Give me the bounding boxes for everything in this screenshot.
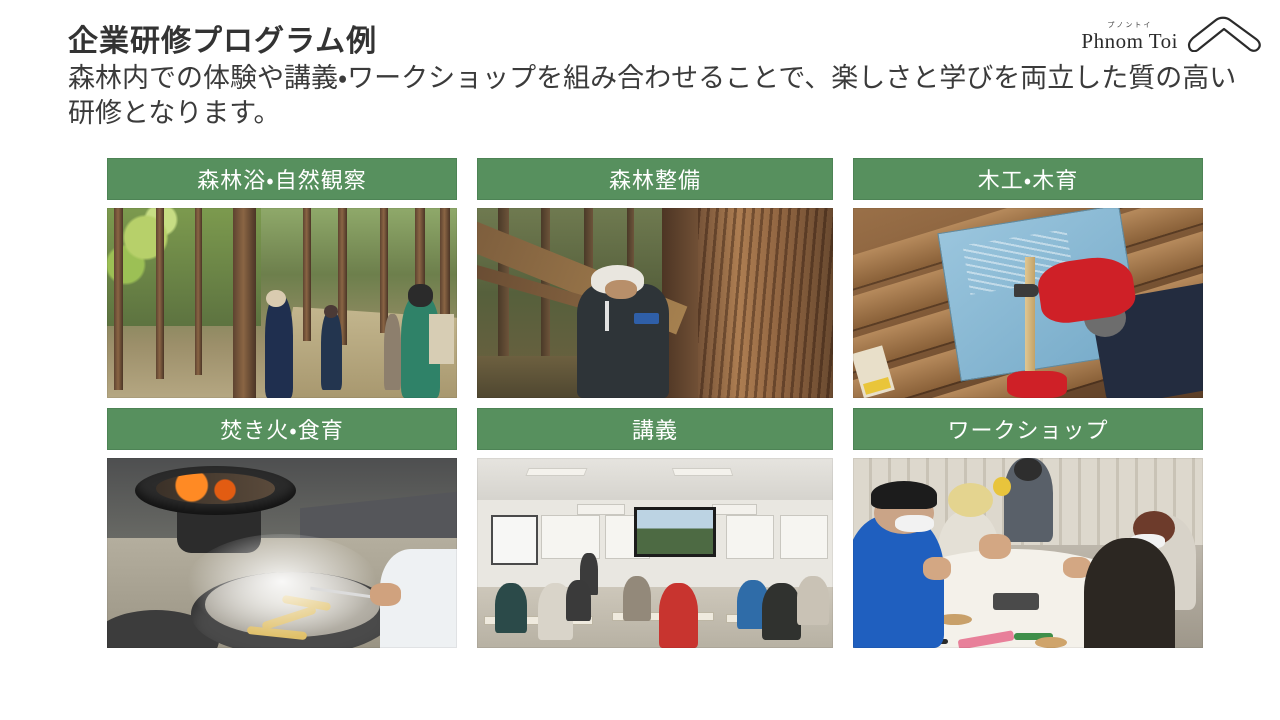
brand-logo: プノントイ Phnom Toi — [1081, 8, 1262, 52]
card-header-label: 森林浴・自然観察 — [107, 158, 457, 200]
forest-maintenance-photo — [477, 208, 833, 398]
lecture-classroom-photo — [477, 458, 833, 648]
logo-ruby-text: プノントイ — [1107, 22, 1152, 29]
program-card[interactable]: 講義 — [477, 408, 833, 648]
program-card[interactable]: 森林浴・自然観察 — [107, 158, 457, 398]
bonfire-food-education-photo — [107, 458, 457, 648]
card-header-label: 焚き火・食育 — [107, 408, 457, 450]
workshop-table-activity-photo — [853, 458, 1203, 648]
card-header-label: 木工・木育 — [853, 158, 1203, 200]
logo-wordmark: Phnom Toi — [1081, 31, 1178, 52]
program-card[interactable]: 焚き火・食育 — [107, 408, 457, 648]
program-card[interactable]: 木工・木育 — [853, 158, 1203, 398]
page-title: 企業研修プログラム例 — [68, 16, 377, 60]
card-header-label: ワークショップ — [853, 408, 1203, 450]
card-header-label: 森林整備 — [477, 158, 833, 200]
program-card[interactable]: 森林整備 — [477, 158, 833, 398]
program-card-grid: 森林浴・自然観察 森林整備 — [107, 158, 1195, 648]
page-subtitle: 森林内での体験や講義・ワークショップを組み合わせることで、楽しさと学びを両立した… — [68, 62, 1248, 131]
slide-root: プノントイ Phnom Toi 企業研修プログラム例 森林内での体験や講義・ワー… — [0, 0, 1280, 720]
logo-text: プノントイ Phnom Toi — [1081, 22, 1178, 52]
woodworking-wood-education-photo — [853, 208, 1203, 398]
forest-bathing-nature-observation-photo — [107, 208, 457, 398]
mountain-chevron-icon — [1186, 16, 1262, 52]
card-header-label: 講義 — [477, 408, 833, 450]
program-card[interactable]: ワークショップ — [853, 408, 1203, 648]
